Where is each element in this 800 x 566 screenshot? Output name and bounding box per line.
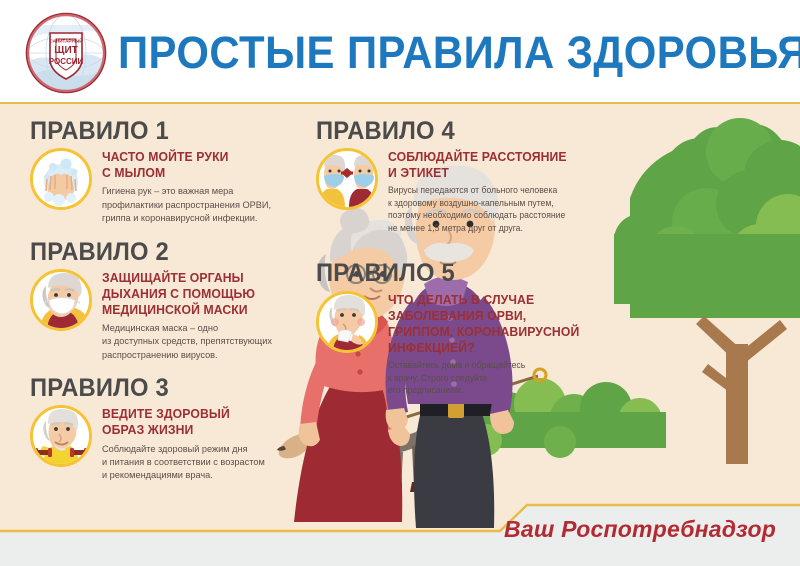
rule-block-4: ПРАВИЛО 4	[316, 118, 606, 234]
rules-column-left: ПРАВИЛО 1	[30, 118, 290, 492]
rule-block-3: ПРАВИЛО 3	[30, 375, 290, 482]
rule-desc-line: профилактики распространения ОРВИ,	[102, 198, 286, 211]
rule-heading-line: И ЭТИКЕТ	[388, 165, 599, 181]
rule-desc-line: к врачу. Строго следуйте	[388, 372, 602, 384]
sick-person-with-handkerchief-icon	[316, 291, 378, 353]
rule-desc-line: Вирусы передаются от больного человека	[388, 184, 602, 196]
rule-desc-line: поэтому необходимо соблюдать расстояние	[388, 209, 602, 221]
rules-column-right: ПРАВИЛО 4	[316, 118, 606, 407]
infographic-poster: САНИТАРНЫЙ ЩИТ РОССИИ ПРОСТЫЕ ПРАВИЛА ЗД…	[0, 0, 800, 566]
rule-desc-line: Оставайтесь дома и обращайтесь	[388, 359, 602, 371]
rule-desc-line: Гигиена рук – это важная мера	[102, 184, 286, 197]
logo-line-2: ЩИТ	[54, 45, 78, 56]
rule-label-4: ПРАВИЛО 4	[316, 118, 592, 144]
logo-line-1: САНИТАРНЫЙ	[49, 37, 82, 44]
rule-heading-line: ДЫХАНИЯ С ПОМОЩЬЮ	[102, 286, 284, 302]
rule-heading-line: ЗАЩИЩАЙТЕ ОРГАНЫ	[102, 270, 284, 286]
header-bar: САНИТАРНЫЙ ЩИТ РОССИИ ПРОСТЫЕ ПРАВИЛА ЗД…	[0, 0, 800, 104]
rule-block-5: ПРАВИЛО 5	[316, 260, 606, 396]
rule-label-5: ПРАВИЛО 5	[316, 260, 592, 286]
rule-heading-line: ГРИППОМ, КОРОНАВИРУСНОЙ	[388, 324, 599, 340]
rule-desc-line: Соблюдайте здоровый режим дня	[102, 442, 286, 455]
page-title: ПРОСТЫЕ ПРАВИЛА ЗДОРОВЬЯ	[118, 22, 741, 84]
rule-label-3: ПРАВИЛО 3	[30, 375, 277, 401]
logo-line-3: РОССИИ	[49, 57, 84, 66]
rule-label-2: ПРАВИЛО 2	[30, 239, 277, 265]
rule-heading-line: ИНФЕКЦИЕЙ?	[388, 340, 599, 356]
footer-signature: Ваш Роспотребнадзор	[504, 516, 776, 543]
rule-desc-line: распространению вирусов.	[102, 348, 286, 361]
rule-desc-line: не менее 1,5 метра друг от друга.	[388, 222, 602, 234]
social-distancing-icon	[316, 148, 378, 210]
elderly-man-with-dumbbells-icon	[30, 405, 92, 467]
rule-heading-line: ОБРАЗ ЖИЗНИ	[102, 422, 284, 438]
rule-desc-line: и рекомендациями врача.	[102, 468, 286, 481]
rule-block-2: ПРАВИЛО 2	[30, 239, 290, 362]
rule-desc-line: к здоровому воздушно-капельным путем,	[388, 197, 602, 209]
rule-desc-line: из доступных средств, препятствующих	[102, 334, 286, 347]
rule-desc-line: его предписаниям.	[388, 384, 602, 396]
rule-heading-line: С МЫЛОМ	[102, 165, 284, 181]
sanitary-shield-of-russia-emblem: САНИТАРНЫЙ ЩИТ РОССИИ	[22, 9, 110, 97]
rule-heading-line: СОБЛЮДАЙТЕ РАССТОЯНИЕ	[388, 149, 599, 165]
rule-desc-line: Медицинская маска – одно	[102, 321, 286, 334]
rule-heading-line: ЧАСТО МОЙТЕ РУКИ	[102, 149, 284, 165]
rule-desc-line: и питания в соответствии с возрастом	[102, 455, 286, 468]
rule-heading-line: МЕДИЦИНСКОЙ МАСКИ	[102, 302, 284, 318]
rule-heading-line: ЧТО ДЕЛАТЬ В СЛУЧАЕ	[388, 292, 599, 308]
rule-desc-line: гриппа и коронавирусной инфекции.	[102, 211, 286, 224]
person-wearing-medical-mask-icon	[30, 269, 92, 331]
rule-block-1: ПРАВИЛО 1	[30, 118, 290, 225]
rule-label-1: ПРАВИЛО 1	[30, 118, 277, 144]
washing-hands-icon	[30, 148, 92, 210]
rule-heading-line: ЗАБОЛЕВАНИЯ ОРВИ,	[388, 308, 599, 324]
rule-heading-line: ВЕДИТЕ ЗДОРОВЫЙ	[102, 406, 284, 422]
